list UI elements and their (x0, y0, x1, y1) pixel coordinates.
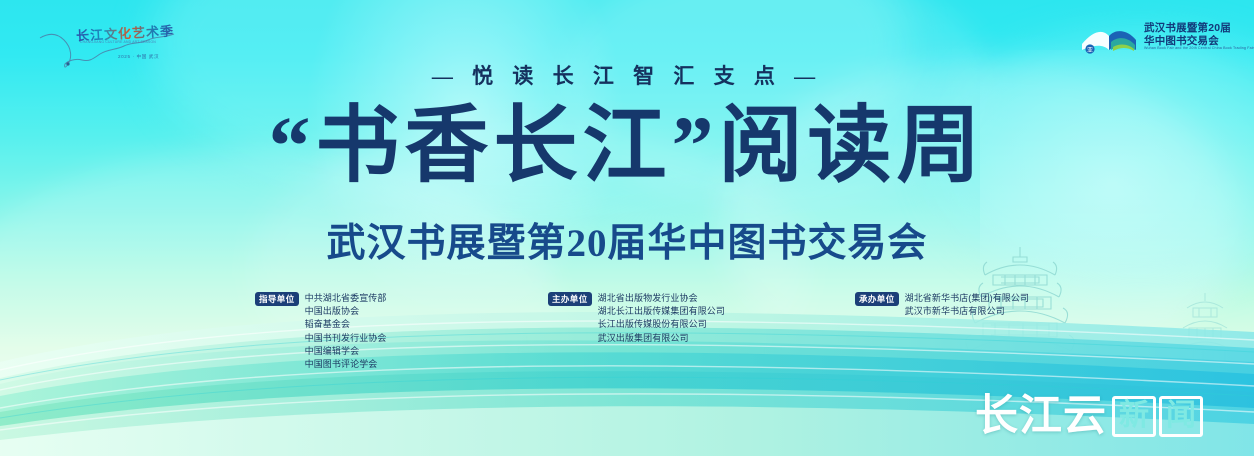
credit-line: 中国图书评论学会 (305, 358, 387, 371)
credit-block-organizer: 主办单位 湖北省出版物发行业协会 湖北长江出版传媒集团有限公司 长江出版传媒股份… (548, 292, 725, 345)
poster-banner: 长江文化艺术季 CHANGJIANG CULTURE AND ART SEASO… (0, 0, 1254, 456)
credit-block-guidance: 指导单位 中共湖北省委宣传部 中国出版协会 韬奋基金会 中国书刊发行业协会 中国… (255, 292, 387, 371)
credit-line: 长江出版传媒股份有限公司 (598, 318, 725, 331)
credit-list: 中共湖北省委宣传部 中国出版协会 韬奋基金会 中国书刊发行业协会 中国编辑学会 … (305, 292, 387, 371)
credit-line: 武汉出版集团有限公司 (598, 332, 725, 345)
credit-block-host: 承办单位 湖北省新华书店(集团)有限公司 武汉市新华书店有限公司 (855, 292, 1029, 318)
watermark-boxed: 新 闻 (1112, 396, 1203, 437)
page-subtitle: 武汉书展暨第20届华中图书交易会 (0, 212, 1254, 268)
credit-line: 武汉市新华书店有限公司 (905, 305, 1030, 318)
watermark-boxed-char: 闻 (1159, 396, 1203, 437)
credit-list: 湖北省出版物发行业协会 湖北长江出版传媒集团有限公司 长江出版传媒股份有限公司 … (598, 292, 725, 345)
logo-english: CHANGJIANG CULTURE AND ART SEASON (80, 40, 156, 45)
tagline: — 悦 读 长 江 智 汇 支 点 — (0, 60, 1254, 90)
credit-list: 湖北省新华书店(集团)有限公司 武汉市新华书店有限公司 (905, 292, 1030, 318)
credit-line: 中共湖北省委宣传部 (305, 292, 387, 305)
pagoda-icon (1165, 290, 1245, 385)
credit-badge: 主办单位 (548, 292, 592, 306)
credit-line: 韬奋基金会 (305, 318, 387, 331)
svg-text:亚: 亚 (1087, 47, 1093, 54)
book-fair-logo[interactable]: 亚 武汉书展暨第20届 华中图书交易会 Wuhan Book Fair and … (1078, 16, 1238, 62)
credit-line: 湖北省新华书店(集团)有限公司 (905, 292, 1030, 305)
credit-badge: 指导单位 (255, 292, 299, 306)
watermark-boxed-char: 新 (1112, 396, 1156, 437)
credit-line: 中国书刊发行业协会 (305, 332, 387, 345)
credit-line: 中国编辑学会 (305, 345, 387, 358)
watermark-text: 长江云 (975, 395, 1107, 438)
logo-english-subtitle: Wuhan Book Fair and the 20th Central Chi… (1144, 46, 1254, 50)
open-book-icon: 亚 (1078, 20, 1140, 54)
channel-watermark: 长江云 新 闻 (975, 395, 1203, 438)
credit-badge: 承办单位 (855, 292, 899, 306)
credit-line: 中国出版协会 (305, 305, 387, 318)
page-title: “书香长江”阅读周 (0, 105, 1254, 189)
credit-line: 湖北省出版物发行业协会 (598, 292, 725, 305)
credit-line: 湖北长江出版传媒集团有限公司 (598, 305, 725, 318)
